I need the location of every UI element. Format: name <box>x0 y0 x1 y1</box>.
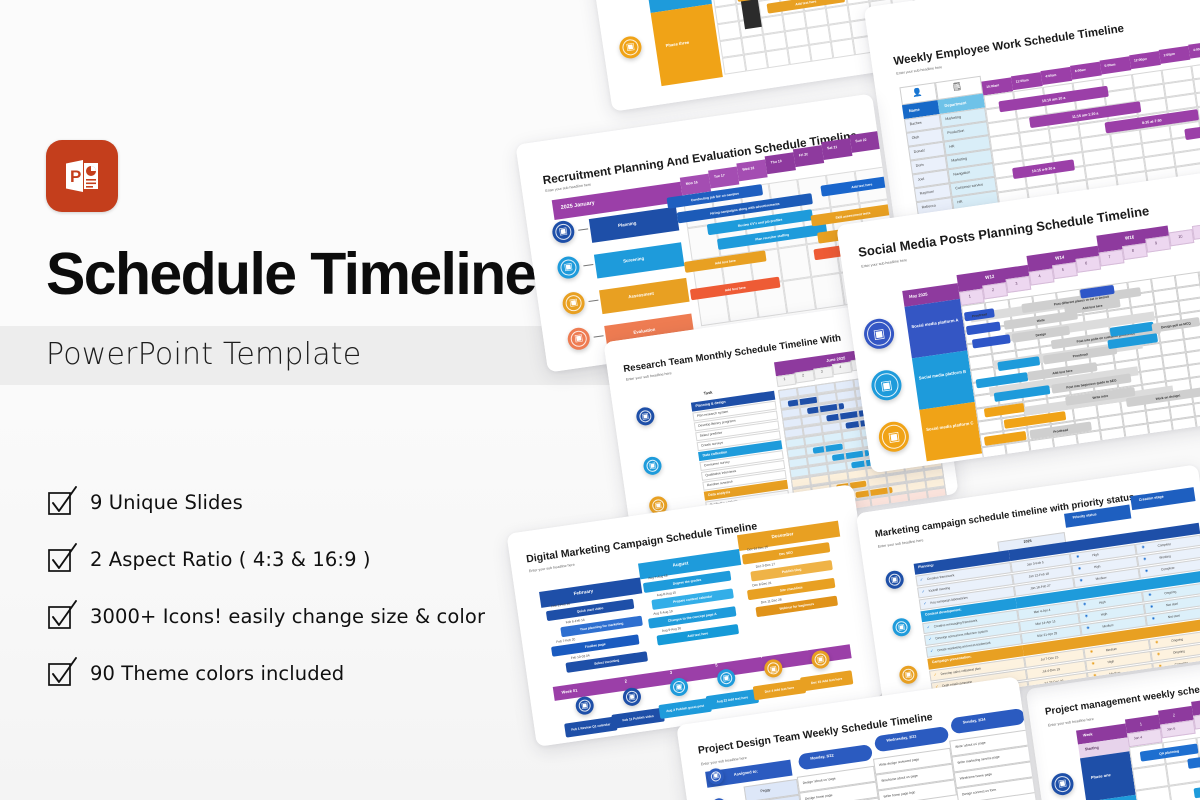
grid-cell <box>809 42 833 62</box>
checkbox-checked-icon <box>48 604 74 630</box>
icon-glyph: ▣ <box>712 773 719 781</box>
day-num: 2 <box>802 373 805 377</box>
icon-glyph: ▣ <box>574 334 584 344</box>
grid-cell <box>787 45 811 65</box>
priority-dot-icon: ◉ <box>1076 554 1080 558</box>
icon-glyph: ▣ <box>1058 779 1068 789</box>
icon-glyph: ▣ <box>628 692 636 701</box>
checkbox-checked-icon <box>48 547 74 573</box>
checkbox-checked-icon <box>48 490 74 516</box>
grid-cell <box>831 38 855 58</box>
check-icon: ✓ <box>928 636 932 641</box>
icon-glyph: ▣ <box>904 671 912 680</box>
day-num: 1 <box>783 377 786 381</box>
feature-label: 3000+ Icons! easily change size & color <box>90 605 485 628</box>
check-icon: ✓ <box>920 577 924 582</box>
icon-glyph: ▣ <box>654 501 662 510</box>
grid-cell <box>783 277 816 314</box>
priority-dot-icon: ◉ <box>1079 578 1083 582</box>
icon-glyph: ▣ <box>558 227 568 237</box>
icon-glyph: ▣ <box>880 378 894 392</box>
icon-glyph: ▣ <box>891 575 899 584</box>
feature-list: 9 Unique Slides 2 Aspect Ratio ( 4:3 & 1… <box>48 474 568 702</box>
stage-dot-icon: ◉ <box>1143 557 1147 561</box>
feature-item: 2 Aspect Ratio ( 4:3 & 16:9 ) <box>48 531 568 588</box>
page-subtitle: PowerPoint Template <box>46 337 361 372</box>
week-number: 9 <box>806 646 809 651</box>
checkbox-checked-icon <box>48 661 74 687</box>
week-number: 3 <box>670 670 673 675</box>
icon-glyph: ▣ <box>887 430 901 444</box>
icon-glyph: ▣ <box>872 327 886 341</box>
icon-glyph: ▣ <box>816 655 824 664</box>
day-num: 4 <box>839 365 842 369</box>
grid-cell <box>811 273 844 310</box>
icon-glyph: ▣ <box>769 665 777 674</box>
feature-item: 90 Theme colors included <box>48 645 568 702</box>
icon-glyph: ▣ <box>675 683 683 692</box>
emp-dept: HR <box>949 144 955 149</box>
priority-dot-icon: ◉ <box>1086 626 1090 630</box>
icon-glyph: ▣ <box>641 412 649 421</box>
clipboard-icon: 🗒 <box>951 82 962 92</box>
icon-glyph: ▣ <box>648 462 656 471</box>
stage-dot-icon: ◉ <box>1141 545 1145 549</box>
icon-glyph: ▣ <box>563 262 573 272</box>
feature-item: 9 Unique Slides <box>48 474 568 531</box>
priority-dot-icon: ◉ <box>1083 602 1087 606</box>
time-hdr-text: 4:00pm <box>1193 47 1200 53</box>
day-cell <box>1192 223 1200 240</box>
icon-glyph: ▣ <box>625 42 635 52</box>
person-icon: 👤 <box>912 87 923 97</box>
week-number: 2 <box>624 678 627 683</box>
svg-text:P: P <box>70 167 81 186</box>
icon-glyph: ▣ <box>897 623 905 632</box>
week-number: 5 <box>715 662 718 667</box>
grid-cell <box>778 244 811 281</box>
emp-dept: HR <box>957 200 963 205</box>
priority-dot-icon: ◉ <box>1078 566 1082 570</box>
icon-glyph: ▣ <box>569 298 579 308</box>
grid-cell <box>1193 400 1200 416</box>
stage-dot-icon: ◉ <box>1157 652 1161 656</box>
stage-dot-icon: ◉ <box>1152 616 1156 620</box>
day-num: 3 <box>820 369 823 373</box>
powerpoint-icon: P <box>46 140 118 212</box>
stage-dot-icon: ◉ <box>1148 592 1152 596</box>
check-icon: ✓ <box>923 601 927 606</box>
stage-dot-icon: ◉ <box>1150 604 1154 608</box>
page-title: Schedule Timeline <box>46 245 536 304</box>
grid-cell <box>744 51 768 71</box>
check-icon: ✓ <box>921 589 925 594</box>
icon-glyph: ▣ <box>581 701 589 710</box>
grid-cell <box>722 55 746 75</box>
check-icon: ✓ <box>933 672 937 677</box>
icon-glyph: ▣ <box>722 674 730 683</box>
day-num: 10 <box>1178 234 1183 240</box>
check-icon: ✓ <box>926 624 930 629</box>
stage-dot-icon: ◉ <box>1155 640 1159 644</box>
priority-dot-icon: ◉ <box>1085 614 1089 618</box>
feature-item: 3000+ Icons! easily change size & color <box>48 588 568 645</box>
priority-dot-icon: ◉ <box>1090 649 1094 653</box>
grid-cell <box>1188 362 1200 378</box>
product-logo-wrap: P <box>46 140 566 212</box>
feature-label: 2 Aspect Ratio ( 4:3 & 16:9 ) <box>90 548 371 571</box>
stage-dot-icon: ◉ <box>1145 569 1149 573</box>
check-icon: ✓ <box>930 648 934 653</box>
grid-cell <box>766 48 790 68</box>
priority-dot-icon: ◉ <box>1091 661 1095 665</box>
feature-label: 90 Theme colors included <box>90 662 344 685</box>
week-number: 7 <box>760 654 763 659</box>
feature-label: 9 Unique Slides <box>90 491 243 514</box>
